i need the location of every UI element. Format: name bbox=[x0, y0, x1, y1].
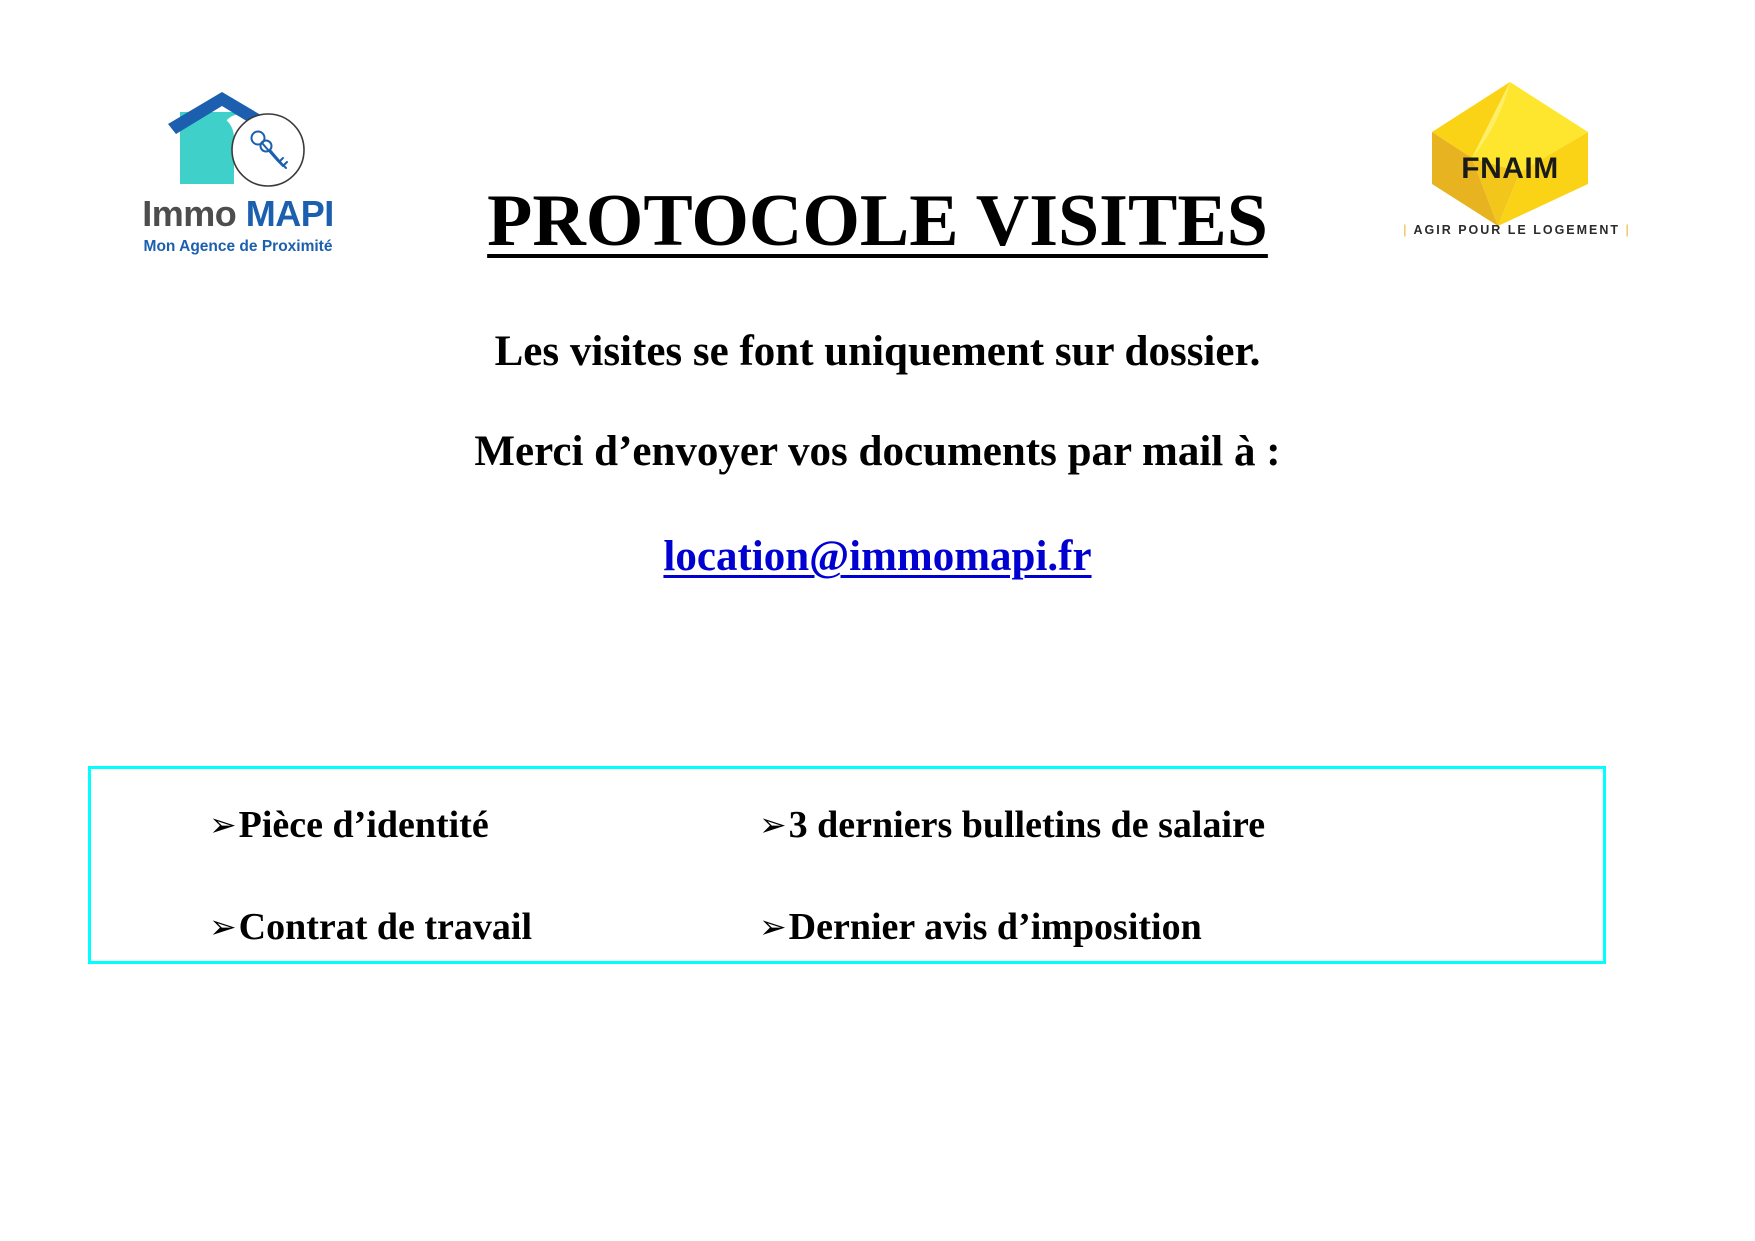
requirements-box: ➢ Pièce d’identité ➢ 3 derniers bulletin… bbox=[88, 766, 1606, 964]
fnaim-slogan-text: AGIR POUR LE LOGEMENT bbox=[1413, 223, 1620, 237]
page-title-text: PROTOCOLE VISITES bbox=[487, 180, 1268, 262]
body-text-block: Les visites se font uniquement sur dossi… bbox=[0, 330, 1755, 578]
fnaim-slogan-bar-left: | bbox=[1403, 223, 1408, 237]
fnaim-slogan: | AGIR POUR LE LOGEMENT | bbox=[1392, 223, 1642, 237]
requirements-grid: ➢ Pièce d’identité ➢ 3 derniers bulletin… bbox=[91, 769, 1603, 961]
email-line: location@immomapi.fr bbox=[0, 535, 1755, 578]
house-with-keys-icon bbox=[150, 88, 330, 196]
body-line-1: Les visites se font uniquement sur dossi… bbox=[0, 330, 1755, 373]
fnaim-slogan-bar-right: | bbox=[1626, 223, 1631, 237]
arrow-bullet-icon: ➢ bbox=[759, 910, 787, 943]
requirement-label: Contrat de travail bbox=[239, 908, 532, 946]
document-header: Immo MAPI Mon Agence de Proximité PROTOC… bbox=[0, 0, 1755, 270]
arrow-bullet-icon: ➢ bbox=[209, 808, 237, 841]
fnaim-logo: FNAIM | AGIR POUR LE LOGEMENT | bbox=[1392, 80, 1662, 260]
requirement-item-work-contract: ➢ Contrat de travail bbox=[209, 908, 532, 946]
requirement-item-payslips: ➢ 3 derniers bulletins de salaire bbox=[759, 806, 1265, 844]
requirement-label: Dernier avis d’imposition bbox=[789, 908, 1202, 946]
email-link[interactable]: location@immomapi.fr bbox=[663, 533, 1091, 580]
fnaim-cube-icon bbox=[1410, 80, 1610, 228]
requirement-item-identity: ➢ Pièce d’identité bbox=[209, 806, 489, 844]
requirement-label: Pièce d’identité bbox=[239, 806, 489, 844]
requirement-label: 3 derniers bulletins de salaire bbox=[789, 806, 1265, 844]
arrow-bullet-icon: ➢ bbox=[209, 910, 237, 943]
requirement-item-tax-notice: ➢ Dernier avis d’imposition bbox=[759, 908, 1202, 946]
arrow-bullet-icon: ➢ bbox=[759, 808, 787, 841]
body-line-2: Merci d’envoyer vos documents par mail à… bbox=[0, 430, 1755, 473]
